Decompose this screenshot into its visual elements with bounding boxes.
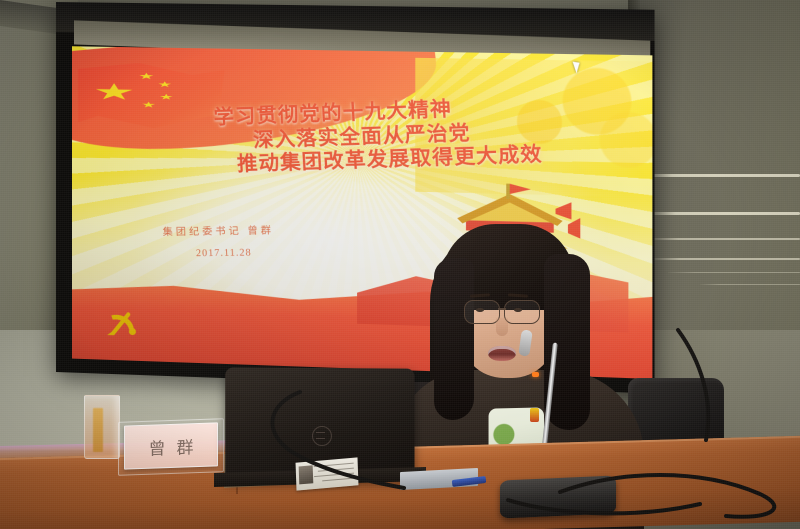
wall-stripe [640,174,800,177]
hair-left [434,258,474,420]
mouth-speaking [488,346,516,361]
eyeglasses-lens-right [504,300,540,324]
wall-stripe [648,238,800,240]
microphone-base-unit [500,475,616,518]
slide-presenter-line: 集团纪委书记 曾群 [162,221,274,238]
wall-stripe [668,272,800,273]
microphone-indicator-light [532,372,539,377]
flag-star-icon [142,102,155,108]
cpc-emblem-icon [100,307,142,343]
flag-star-icon [95,83,133,102]
document-text-line [318,468,354,472]
water-reflection [93,408,103,452]
presentation-photo-scene: 学习贯彻党的十九大精神 深入落实全面从严治党 推动集团改革发展取得更大成效 集团… [0,0,800,529]
nameplate-text: 曾群 [138,432,205,459]
wall-stripe [644,212,800,215]
wall-stripe [650,258,800,260]
eyeglasses-bridge [498,308,506,310]
lapel-badge [530,408,539,422]
flag-star-icon [139,73,154,80]
dell-logo-icon [312,426,332,446]
water-glass [84,395,120,459]
flag-star-icon [160,94,173,100]
eyeglasses-lens-left [464,300,500,324]
document-text-line [314,473,354,478]
slide-date: 2017.11.28 [196,247,252,259]
document-photo [299,465,314,484]
document-text-line [314,463,354,468]
nose [496,318,508,336]
desk-nameplate: 曾群 [124,422,218,469]
printed-document [296,457,359,490]
flag-star-icon [158,81,171,87]
wall-stripe [700,284,800,285]
document-text-line [322,478,354,482]
